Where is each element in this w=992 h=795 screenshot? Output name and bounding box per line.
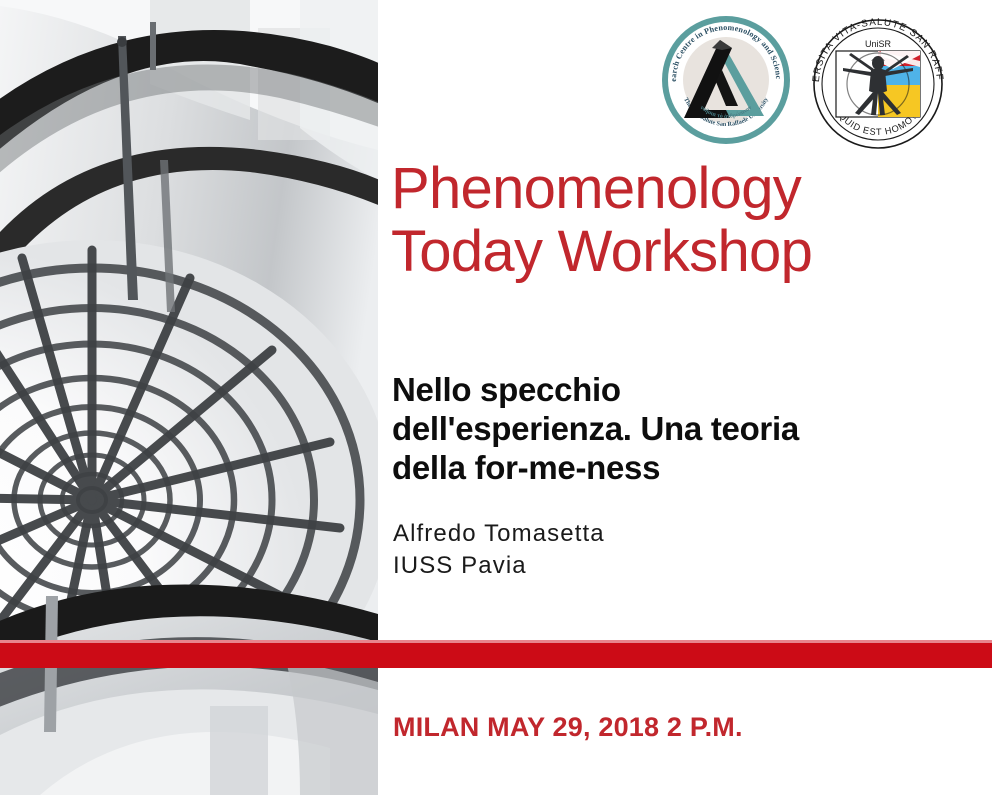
speaker-affiliation: IUSS Pavia xyxy=(393,550,843,582)
persona-research-centre-logo: PERSONA Research Centre in Phenomenology… xyxy=(660,14,792,146)
page-title: Phenomenology Today Workshop xyxy=(391,157,961,283)
red-divider-bar xyxy=(0,640,992,668)
speaker-block: Alfredo Tomasetta IUSS Pavia xyxy=(393,518,843,582)
presentation-slide: PERSONA Research Centre in Phenomenology… xyxy=(0,0,992,795)
speaker-name: Alfredo Tomasetta xyxy=(393,518,843,550)
svg-text:UniSR: UniSR xyxy=(865,39,892,49)
logo-row: PERSONA Research Centre in Phenomenology… xyxy=(660,14,960,154)
universita-vita-salute-san-raffaele-logo: UNIVERSITA VITA-SALUTE SAN RAFFAELE QUID… xyxy=(805,11,951,157)
guggenheim-skylight-oculus-photograph xyxy=(0,0,378,795)
talk-subtitle: Nello specchio dell'esperienza. Una teor… xyxy=(392,371,922,488)
event-location-date: MILAN MAY 29, 2018 2 P.M. xyxy=(393,712,743,743)
